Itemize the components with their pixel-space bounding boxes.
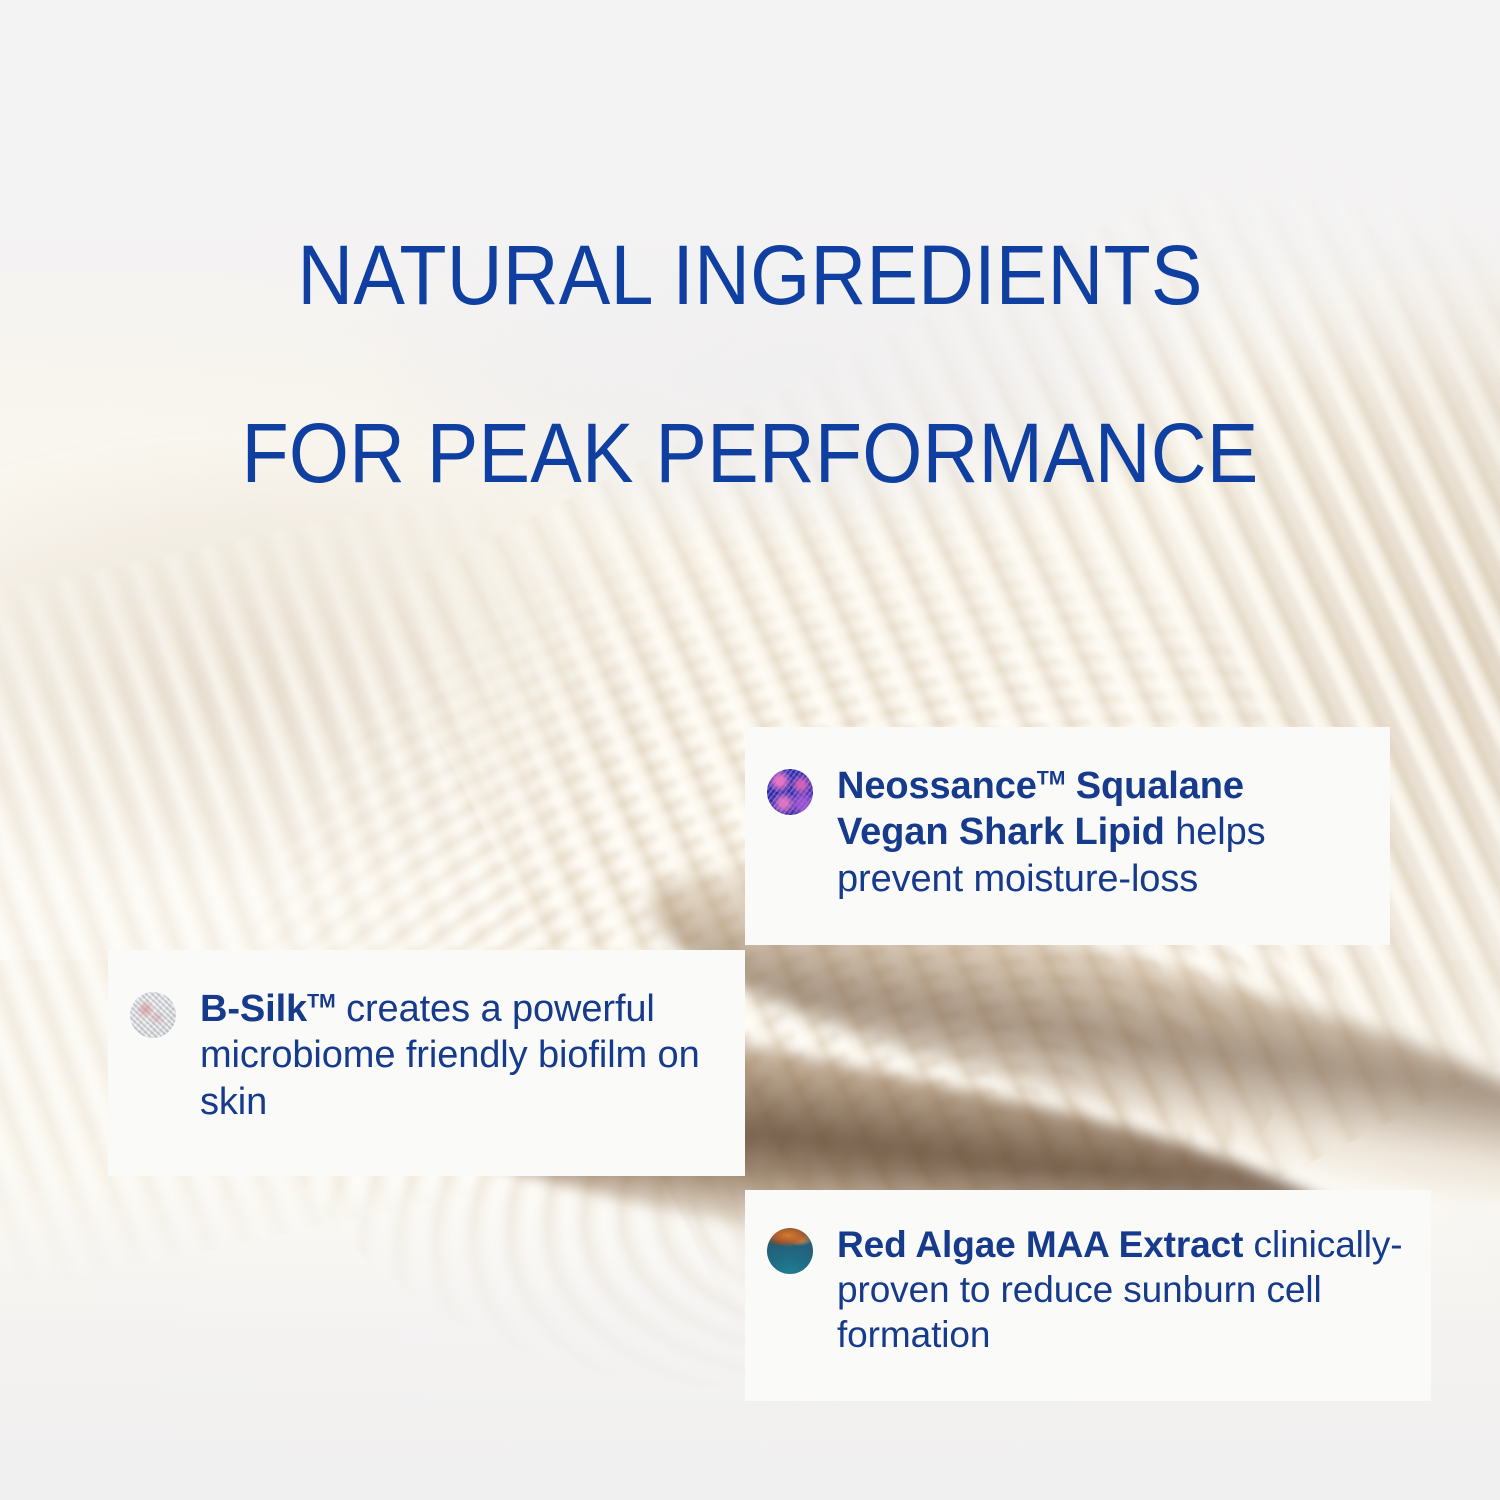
- trademark-symbol: TM: [1037, 767, 1066, 789]
- ingredient-name: B-Silk: [200, 988, 307, 1030]
- product-ingredients-infographic: NATURAL INGREDIENTS FOR PEAK PERFORMANCE…: [0, 0, 1500, 1500]
- ingredient-name: Red Algae MAA Extract: [837, 1224, 1243, 1265]
- red-algae-ingredient-icon: [767, 1228, 813, 1274]
- ingredient-card-squalane-text: NeossanceTM Squalane Vegan Shark Lipid h…: [837, 763, 1364, 902]
- trademark-symbol: TM: [307, 990, 336, 1012]
- b-silk-ingredient-icon: [130, 992, 176, 1038]
- page-title-line-2: FOR PEAK PERFORMANCE: [241, 406, 1258, 500]
- page-title-line-1: NATURAL INGREDIENTS: [297, 228, 1202, 322]
- ingredient-name: Neossance: [837, 765, 1037, 807]
- ingredient-card-red-algae-text: Red Algae MAA Extract clinically-proven …: [837, 1222, 1405, 1357]
- page-title: NATURAL INGREDIENTS FOR PEAK PERFORMANCE: [60, 142, 1440, 498]
- ingredient-card-squalane: NeossanceTM Squalane Vegan Shark Lipid h…: [745, 727, 1390, 945]
- ingredient-card-b-silk: B-SilkTM creates a powerful microbiome f…: [108, 950, 745, 1176]
- squalane-ingredient-icon: [767, 769, 813, 815]
- ingredient-card-b-silk-text: B-SilkTM creates a powerful microbiome f…: [200, 986, 721, 1125]
- ingredient-card-red-algae: Red Algae MAA Extract clinically-proven …: [745, 1190, 1431, 1401]
